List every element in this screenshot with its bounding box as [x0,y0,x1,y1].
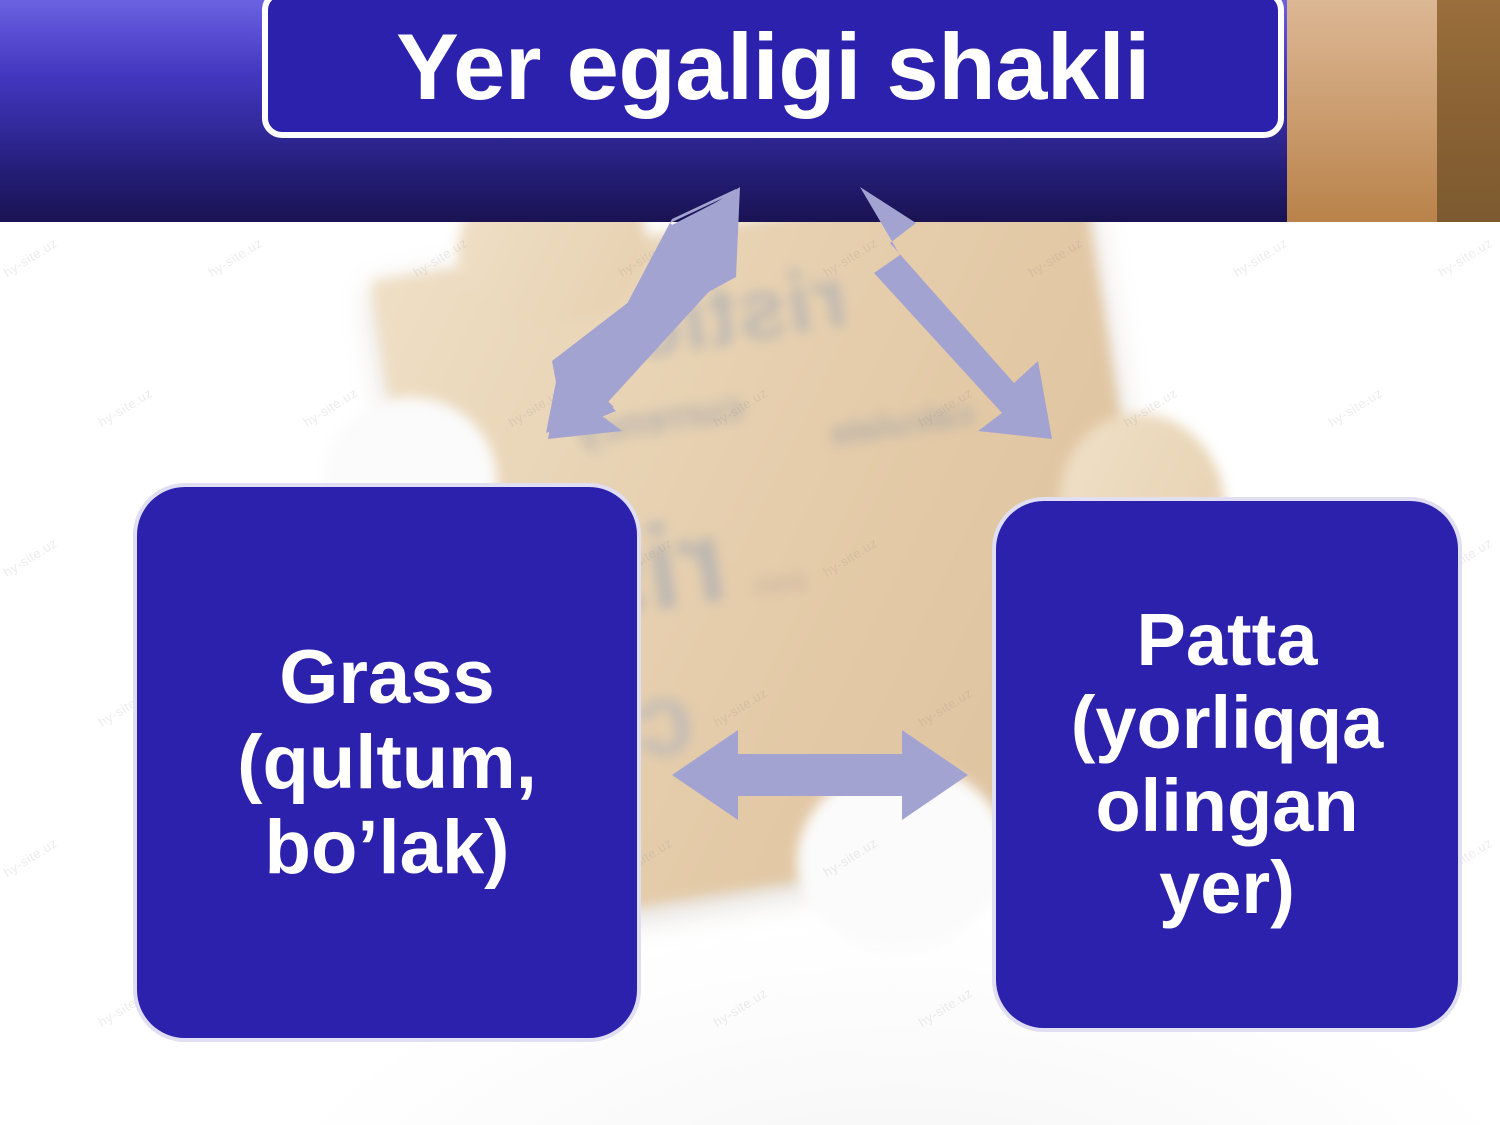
slide-title-box: Yer egaligi shakli [262,0,1284,138]
header-tan-band [1287,0,1437,222]
concept-box-patta[interactable]: Patta (yorliqqa olingan yer) [992,497,1462,1032]
concept-box-grass[interactable]: Grass (qultum, bo’lak) [133,483,641,1042]
header-brown-band [1437,0,1500,222]
page-title: Yer egaligi shakli [396,14,1150,114]
concept-box-patta-label: Patta (yorliqqa olingan yer) [1063,599,1391,931]
concept-box-grass-label: Grass (qultum, bo’lak) [229,635,545,890]
slide-canvas: ristic currency rist cat calculate pan h… [0,0,1500,1125]
